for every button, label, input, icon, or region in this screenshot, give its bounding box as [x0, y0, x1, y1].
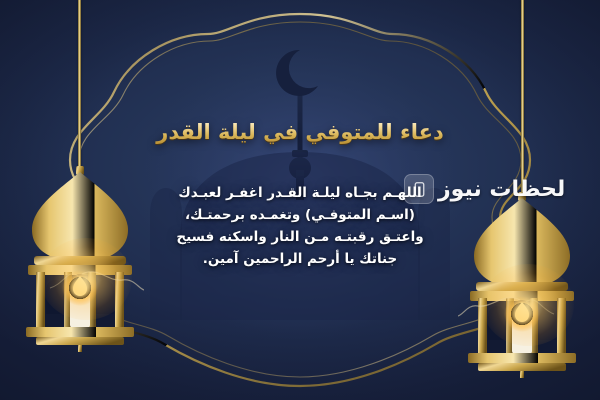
dua-line: جناتك يا أرحم الراحمين آمين. [118, 248, 482, 270]
lantern-hanger-rod-left [78, 0, 81, 170]
dua-line: (اسـم المتوفـي) وتغمـده برحمتـك، [118, 204, 482, 226]
lantern-hanger-rod-right [521, 0, 524, 196]
watermark: لحظات نيوز [404, 174, 565, 204]
app-badge-icon [404, 174, 434, 204]
page-title: دعاء للمتوفي في ليلة القدر [150, 120, 449, 144]
dua-card: دعاء للمتوفي في ليلة القدر اللهـم بجـاه … [0, 0, 600, 400]
card-title-container: دعاء للمتوفي في ليلة القدر [0, 120, 600, 144]
watermark-text: لحظات نيوز [438, 177, 565, 202]
dua-line: واعتـق رقبتـه مـن النار واسكنه فسيح [118, 226, 482, 248]
